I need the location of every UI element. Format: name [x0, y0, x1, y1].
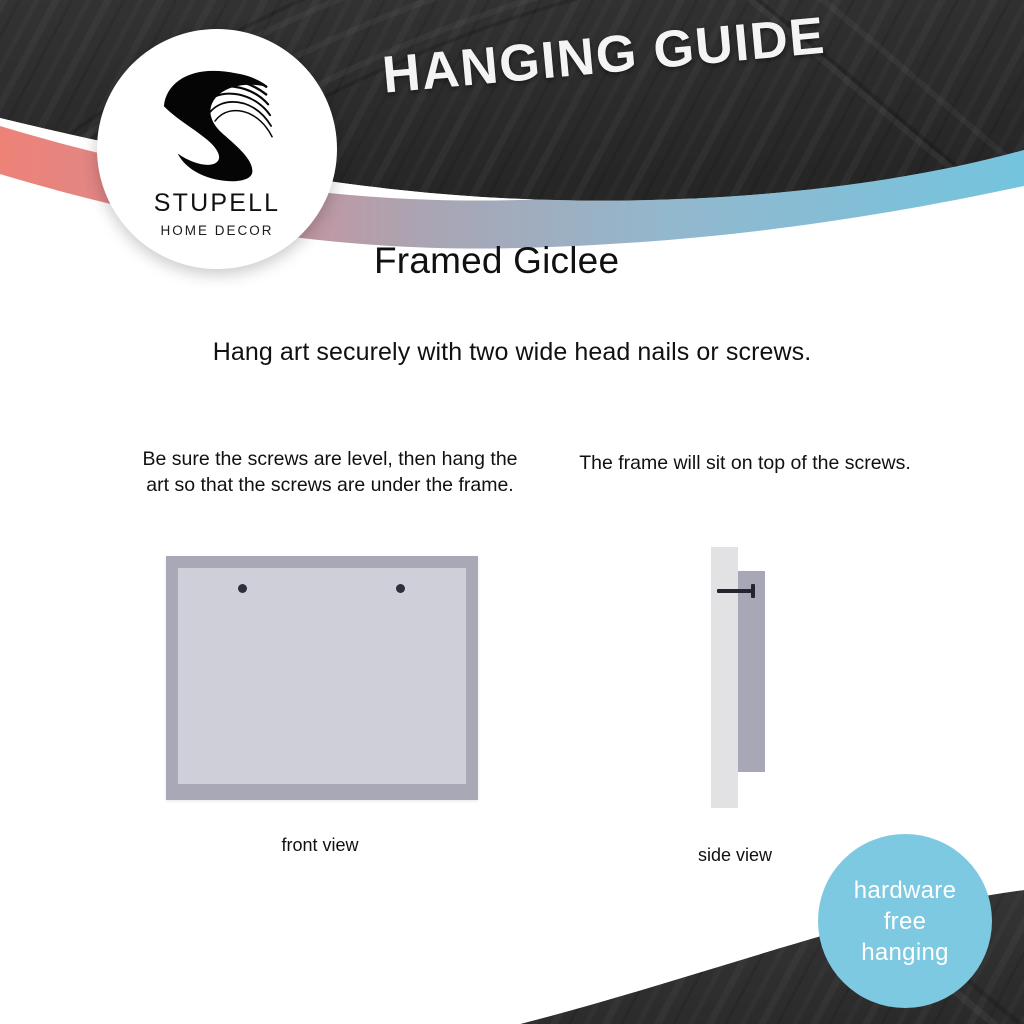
instruction-text-front: Be sure the screws are level, then hang …: [140, 446, 520, 498]
brand-submark: HOME DECOR: [160, 223, 273, 238]
hanging-guide-page: HANGING GUIDE STUPELL HOME DECOR Framed …: [0, 0, 1024, 1024]
front-view-screw-dot-right: [396, 584, 405, 593]
hardware-free-hanging-badge: hardware free hanging: [818, 834, 992, 1008]
front-view-mat: [178, 568, 466, 784]
lead-instruction-text: Hang art securely with two wide head nai…: [0, 338, 1024, 367]
caption-side-view: side view: [640, 845, 830, 866]
brand-logo-badge: STUPELL HOME DECOR: [97, 29, 337, 269]
instruction-text-side: The frame will sit on top of the screws.: [575, 450, 915, 476]
side-view-wall: [711, 547, 738, 808]
side-view-frame: [738, 571, 765, 772]
page-title: HANGING GUIDE: [380, 6, 828, 106]
front-view-frame-diagram: [166, 556, 478, 800]
badge-line-1: hardware: [854, 875, 956, 906]
side-view-screw-shaft: [717, 589, 753, 593]
badge-line-3: hanging: [861, 937, 949, 968]
front-view-screw-dot-left: [238, 584, 247, 593]
badge-line-2: free: [884, 906, 927, 937]
product-type-label: Framed Giclee: [374, 240, 619, 282]
caption-front-view: front view: [195, 835, 445, 856]
side-view-screw-head: [751, 584, 755, 598]
stupell-swirl-s-icon: [158, 63, 276, 183]
brand-wordmark: STUPELL: [154, 189, 281, 218]
